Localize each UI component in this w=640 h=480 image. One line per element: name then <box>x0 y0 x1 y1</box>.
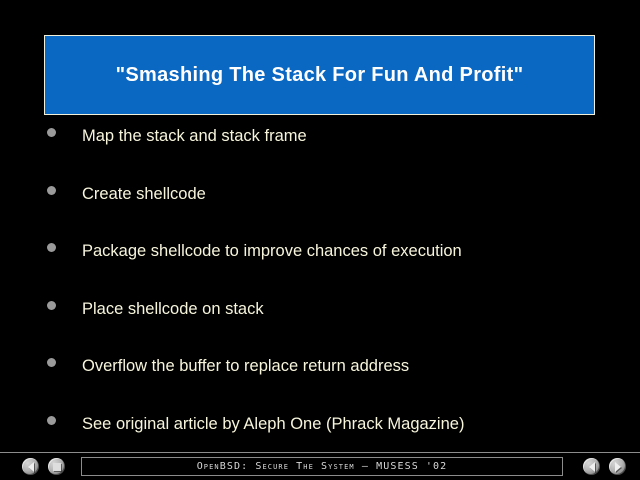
bullet-dot-icon <box>47 186 56 195</box>
page-title: "Smashing The Stack For Fun And Profit" <box>116 65 524 85</box>
bullet-dot-icon <box>47 128 56 137</box>
next-slide-button[interactable] <box>609 458 626 475</box>
list-item: Package shellcode to improve chances of … <box>44 243 604 301</box>
stop-icon <box>53 463 61 471</box>
presentation-slide: "Smashing The Stack For Fun And Profit" … <box>0 0 640 480</box>
list-item: Place shellcode on stack <box>44 301 604 359</box>
list-item: Overflow the buffer to replace return ad… <box>44 358 604 416</box>
first-slide-button[interactable] <box>22 458 39 475</box>
previous-slide-button[interactable] <box>583 458 600 475</box>
previous-slide-icon <box>589 462 595 472</box>
bullet-dot-icon <box>47 301 56 310</box>
list-item-label: See original article by Aleph One (Phrac… <box>82 416 464 433</box>
footer-title: OpenBSD: Secure The System — MUSESS '02 <box>197 462 448 472</box>
list-item-label: Place shellcode on stack <box>82 301 264 318</box>
next-slide-icon <box>615 462 621 472</box>
list-item-label: Map the stack and stack frame <box>82 128 307 145</box>
bullet-list: Map the stack and stack frame Create she… <box>44 128 604 473</box>
slide-footer: OpenBSD: Secure The System — MUSESS '02 <box>0 453 640 480</box>
slide-title-banner: "Smashing The Stack For Fun And Profit" <box>44 35 595 115</box>
list-item-label: Overflow the buffer to replace return ad… <box>82 358 409 375</box>
first-slide-icon <box>28 462 34 472</box>
list-item: Map the stack and stack frame <box>44 128 604 186</box>
footer-title-box: OpenBSD: Secure The System — MUSESS '02 <box>81 457 563 476</box>
bullet-dot-icon <box>47 243 56 252</box>
list-item-label: Create shellcode <box>82 186 206 203</box>
stop-button[interactable] <box>48 458 65 475</box>
bullet-dot-icon <box>47 416 56 425</box>
bullet-dot-icon <box>47 358 56 367</box>
list-item-label: Package shellcode to improve chances of … <box>82 243 462 260</box>
list-item: Create shellcode <box>44 186 604 244</box>
